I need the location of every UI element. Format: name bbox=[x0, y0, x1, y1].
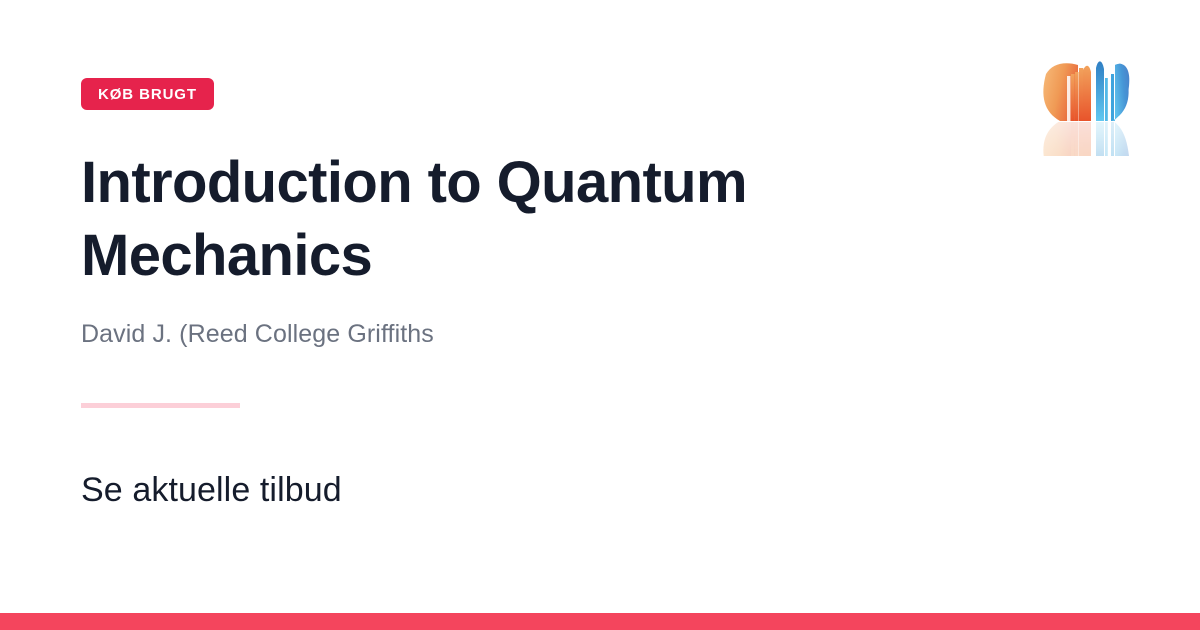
butterfly-wings-logo bbox=[1034, 52, 1138, 156]
author-line: David J. (Reed College Griffiths bbox=[81, 292, 981, 351]
content-block: Introduction to Quantum Mechanics David … bbox=[81, 146, 981, 511]
page-title: Introduction to Quantum Mechanics bbox=[81, 146, 961, 292]
logo-main-shape bbox=[1043, 61, 1129, 121]
bottom-accent-bar bbox=[0, 613, 1200, 630]
status-badge: KØB BRUGT bbox=[81, 78, 214, 110]
logo-reflection bbox=[1034, 121, 1138, 156]
status-badge-label: KØB BRUGT bbox=[98, 87, 197, 102]
og-card: KØB BRUGT bbox=[0, 0, 1200, 630]
cta-text[interactable]: Se aktuelle tilbud bbox=[81, 408, 981, 512]
